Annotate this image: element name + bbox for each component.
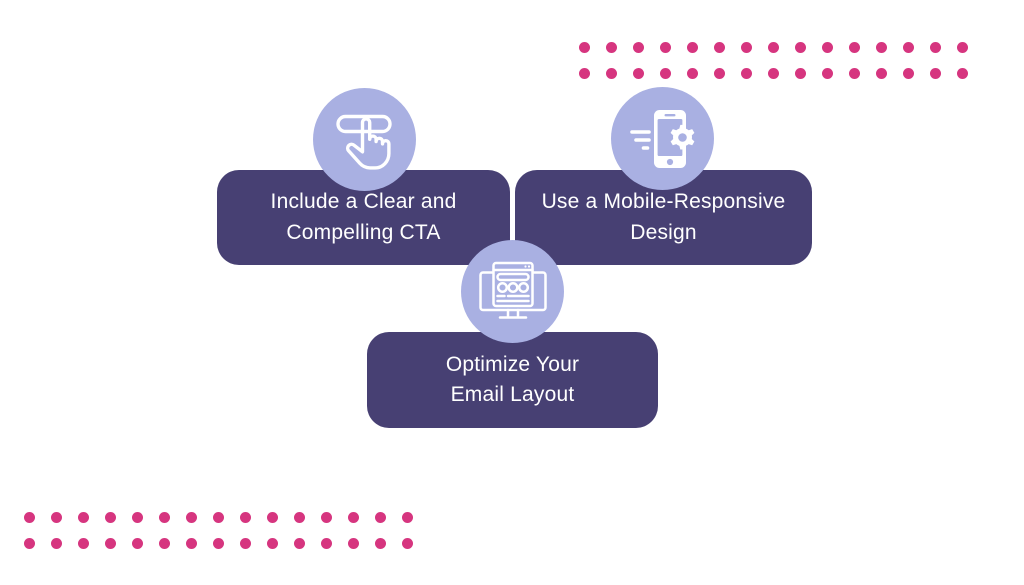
- dot: [267, 512, 278, 523]
- dot: [957, 42, 968, 53]
- dot: [957, 68, 968, 79]
- dot: [240, 512, 251, 523]
- dot: [294, 538, 305, 549]
- dot: [606, 68, 617, 79]
- dot: [348, 538, 359, 549]
- dot: [348, 512, 359, 523]
- dot: [768, 42, 779, 53]
- hand-tap-button-icon: [313, 88, 416, 191]
- dot: [876, 68, 887, 79]
- dot: [132, 538, 143, 549]
- dot: [51, 538, 62, 549]
- dot: [714, 68, 725, 79]
- dot: [660, 42, 671, 53]
- dot: [186, 512, 197, 523]
- dot: [687, 42, 698, 53]
- dot: [402, 512, 413, 523]
- dot: [375, 538, 386, 549]
- dot: [267, 538, 278, 549]
- decorative-dot-grid-bottom-left: [16, 504, 421, 556]
- dot: [903, 42, 914, 53]
- dot: [51, 512, 62, 523]
- card-label: Optimize Your Email Layout: [432, 350, 593, 411]
- card-label: Include a Clear and Compelling CTA: [257, 187, 471, 248]
- dot: [876, 42, 887, 53]
- dot: [78, 512, 89, 523]
- dot: [402, 538, 413, 549]
- dot: [186, 538, 197, 549]
- dot: [78, 538, 89, 549]
- dot: [606, 42, 617, 53]
- dot: [159, 512, 170, 523]
- dot: [633, 68, 644, 79]
- mobile-gear-icon: [611, 87, 714, 190]
- monitor-browser-layout-icon: [461, 240, 564, 343]
- dot: [741, 42, 752, 53]
- dot: [24, 512, 35, 523]
- dot: [213, 538, 224, 549]
- dot: [579, 42, 590, 53]
- dot: [579, 68, 590, 79]
- dot: [321, 538, 332, 549]
- dot: [294, 512, 305, 523]
- dot: [105, 538, 116, 549]
- dot: [24, 538, 35, 549]
- infographic-canvas: Include a Clear and Compelling CTA Use a…: [0, 0, 1024, 585]
- dot: [903, 68, 914, 79]
- dot: [741, 68, 752, 79]
- card-optimize-email-layout[interactable]: Optimize Your Email Layout: [367, 332, 658, 428]
- dot: [633, 42, 644, 53]
- decorative-dot-grid-top-right: [571, 34, 976, 86]
- dot: [795, 68, 806, 79]
- dot: [105, 512, 116, 523]
- dot: [768, 68, 779, 79]
- dot: [822, 42, 833, 53]
- dot: [375, 512, 386, 523]
- dot: [795, 42, 806, 53]
- dot: [660, 68, 671, 79]
- dot: [714, 42, 725, 53]
- dot: [240, 538, 251, 549]
- dot: [321, 512, 332, 523]
- dot: [213, 512, 224, 523]
- dot: [132, 512, 143, 523]
- dot: [159, 538, 170, 549]
- dot: [822, 68, 833, 79]
- dot: [930, 68, 941, 79]
- dot: [930, 42, 941, 53]
- dot: [849, 42, 860, 53]
- dot: [849, 68, 860, 79]
- dot: [687, 68, 698, 79]
- card-label: Use a Mobile-Responsive Design: [528, 187, 800, 248]
